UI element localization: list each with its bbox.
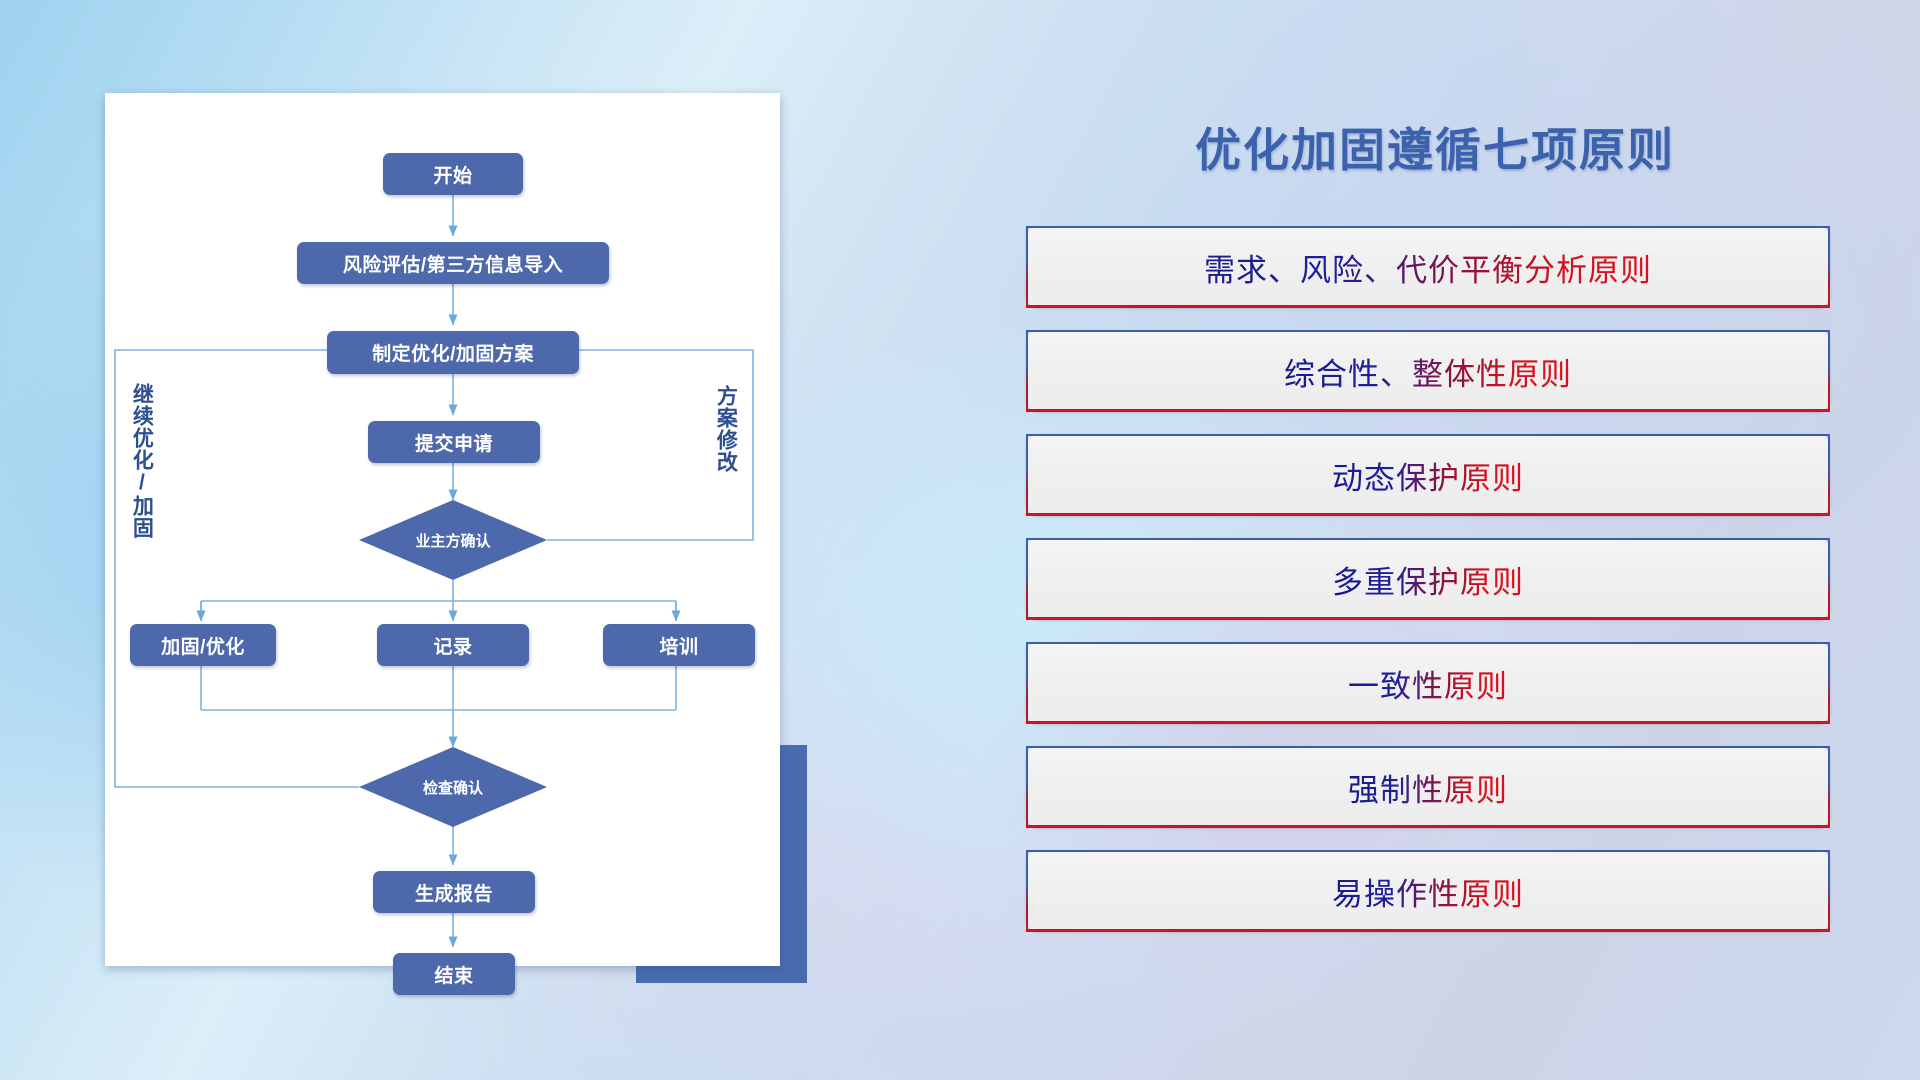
principle-item-1-label: 需求、风险、代价平衡分析原则: [1204, 245, 1652, 290]
principle-item-2[interactable]: 综合性、整体性原则: [1026, 330, 1830, 412]
flowchart-card: 开始 风险评估/第三方信息导入 制定优化/加固方案 提交申请 业主方确认 加固/…: [105, 93, 780, 966]
principle-item-6[interactable]: 强制性原则: [1026, 746, 1830, 828]
flow-node-start[interactable]: 开始: [383, 153, 523, 195]
flow-node-generate-report-label: 生成报告: [415, 879, 493, 906]
flow-node-submit-application-label: 提交申请: [415, 429, 493, 456]
principle-item-5-label: 一致性原则: [1348, 661, 1508, 706]
principle-item-7[interactable]: 易操作性原则: [1026, 850, 1830, 932]
flow-node-owner-confirm[interactable]: 业主方确认: [359, 500, 547, 580]
edge-label-plan-revision: 方案修改: [715, 385, 736, 515]
principle-item-4-label: 多重保护原则: [1332, 557, 1524, 602]
principles-panel: 优化加固遵循七项原则 需求、风险、代价平衡分析原则 综合性、整体性原则 动态保护…: [1020, 100, 1850, 1000]
principle-item-4[interactable]: 多重保护原则: [1026, 538, 1830, 620]
flow-node-submit-application[interactable]: 提交申请: [368, 421, 540, 463]
principle-list: 需求、风险、代价平衡分析原则 综合性、整体性原则 动态保护原则 多重保护原则 一…: [1026, 226, 1830, 954]
flow-node-start-label: 开始: [433, 161, 472, 188]
flow-node-risk-assessment[interactable]: 风险评估/第三方信息导入: [297, 242, 609, 284]
principle-item-5[interactable]: 一致性原则: [1026, 642, 1830, 724]
principle-item-3[interactable]: 动态保护原则: [1026, 434, 1830, 516]
principle-item-2-label: 综合性、整体性原则: [1284, 349, 1572, 394]
flow-node-reinforce[interactable]: 加固/优化: [130, 624, 276, 666]
panel-title: 优化加固遵循七项原则: [1020, 114, 1850, 180]
principle-item-6-label: 强制性原则: [1348, 765, 1508, 810]
flow-node-owner-confirm-label: 业主方确认: [415, 530, 490, 551]
flow-node-generate-report[interactable]: 生成报告: [373, 871, 535, 913]
flow-node-make-plan[interactable]: 制定优化/加固方案: [327, 331, 579, 374]
flow-node-record-label: 记录: [433, 632, 472, 659]
flow-node-make-plan-label: 制定优化/加固方案: [372, 339, 534, 366]
flow-node-training-label: 培训: [659, 632, 698, 659]
edge-label-continue-optimize: 继续优化/加固: [131, 383, 152, 563]
flow-node-risk-assessment-label: 风险评估/第三方信息导入: [343, 250, 563, 277]
principle-item-3-label: 动态保护原则: [1332, 453, 1524, 498]
principle-item-7-label: 易操作性原则: [1332, 869, 1524, 914]
principle-item-1[interactable]: 需求、风险、代价平衡分析原则: [1026, 226, 1830, 308]
flow-node-record[interactable]: 记录: [377, 624, 529, 666]
flow-node-training[interactable]: 培训: [603, 624, 755, 666]
flow-node-end[interactable]: 结束: [393, 953, 515, 995]
flow-node-check-confirm[interactable]: 检查确认: [359, 747, 547, 827]
flow-node-check-confirm-label: 检查确认: [423, 777, 483, 798]
flow-node-reinforce-label: 加固/优化: [161, 632, 245, 659]
slide-canvas: 开始 风险评估/第三方信息导入 制定优化/加固方案 提交申请 业主方确认 加固/…: [0, 0, 1920, 1080]
flow-node-end-label: 结束: [434, 961, 473, 988]
